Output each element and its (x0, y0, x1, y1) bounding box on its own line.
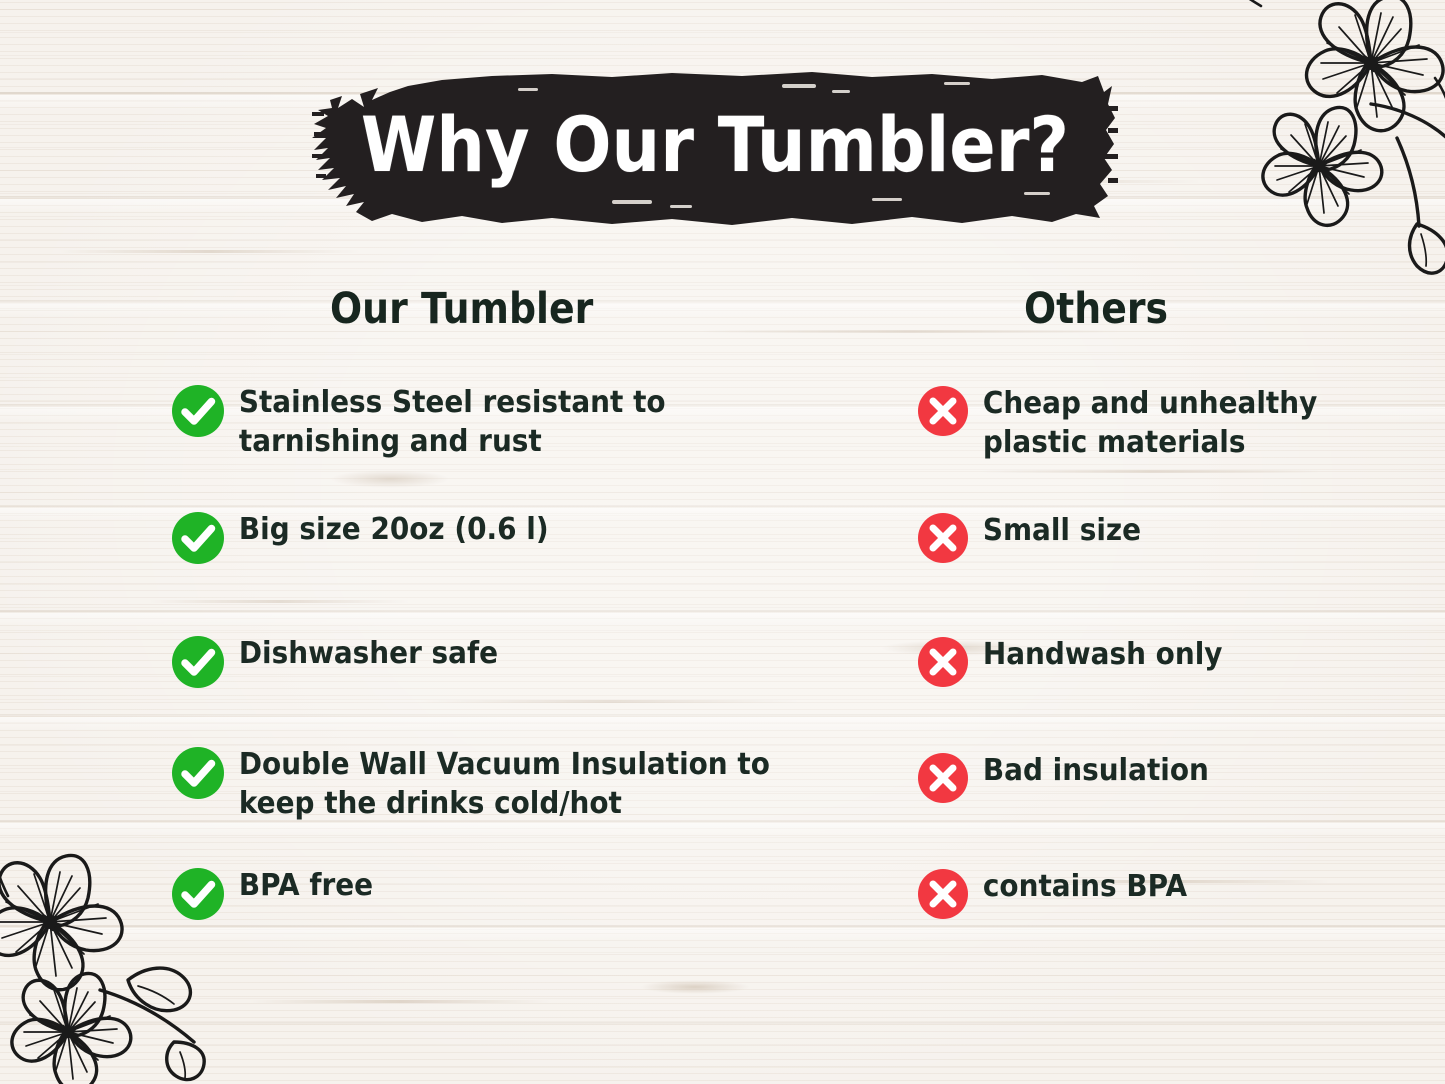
list-item-label: Small size (968, 511, 1420, 550)
x-circle-icon (918, 637, 968, 687)
x-circle-icon (918, 386, 968, 436)
list-item-label: Bad insulation (968, 751, 1420, 790)
floral-decoration-bottom-left (0, 804, 238, 1084)
list-item: Small size (918, 513, 1445, 563)
infographic-canvas: Why Our Tumbler? Our Tumbler Others Stai… (0, 0, 1445, 1084)
list-item: contains BPA (918, 869, 1445, 919)
list-item: Bad insulation (918, 753, 1445, 803)
list-item: Handwash only (918, 637, 1445, 687)
list-item: Cheap and unhealthy plastic materials (918, 386, 1445, 462)
x-circle-icon (918, 513, 968, 563)
x-circle-icon (918, 869, 968, 919)
list-item-label: Handwash only (968, 635, 1420, 674)
list-item-label: contains BPA (968, 867, 1420, 906)
floral-decoration-top-right (1221, 0, 1445, 288)
x-circle-icon (918, 753, 968, 803)
list-item-label: Cheap and unhealthy plastic materials (968, 384, 1420, 462)
